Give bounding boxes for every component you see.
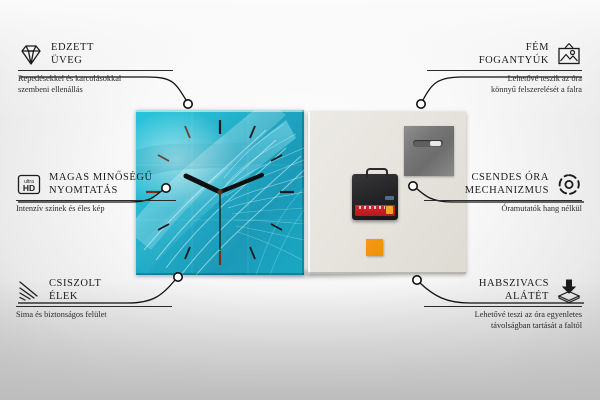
ultra-hd-icon: ultra HD: [16, 172, 42, 197]
callout-head: EDZETT ÜVEG: [18, 42, 173, 67]
callout-title: HABSZIVACS ALÁTÉT: [424, 278, 549, 303]
callout-divider: [424, 306, 582, 307]
svg-text:HD: HD: [23, 183, 35, 193]
callout-desc-line1: Repedésekkel és karcolásokkal: [18, 74, 173, 85]
callout-head: FÉM FOGANTYÚK: [427, 42, 582, 67]
callout-title: CSENDES ÓRA MECHANIZMUS: [424, 172, 549, 197]
wall-hanger-icon: [556, 42, 582, 67]
callout-csendes-ora-mechanizmus[interactable]: CSENDES ÓRA MECHANIZMUS Óramutatók hang …: [424, 172, 582, 215]
callout-title: CSISZOLT ÉLEK: [49, 278, 101, 303]
callout-head: HABSZIVACS ALÁTÉT: [424, 278, 582, 303]
polished-edges-icon: [16, 278, 42, 303]
callout-habszivacs-alatet[interactable]: HABSZIVACS ALÁTÉT Lehetővé teszi az óra …: [424, 278, 582, 331]
callout-title: EDZETT ÜVEG: [51, 42, 94, 67]
callout-fem-fogantyuk[interactable]: FÉM FOGANTYÚK Lehetővé teszik az óra kön…: [427, 42, 582, 95]
callout-desc-line1: Lehetővé teszik az óra: [427, 74, 582, 85]
callout-divider: [16, 306, 172, 307]
callout-divider: [18, 70, 173, 71]
callout-csiszolt-elek[interactable]: CSISZOLT ÉLEK Sima és biztonságos felüle…: [16, 278, 172, 321]
infographic-canvas: EDZETT ÜVEG Repedésekkel és karcolásokka…: [0, 0, 600, 400]
callout-divider: [16, 200, 176, 201]
diamond-icon: [18, 42, 44, 67]
callout-head: ultra HD MAGAS MINŐSÉGŰ NYOMTATÁS: [16, 172, 176, 197]
callout-desc-line2: távolságban tartását a faltól: [424, 321, 582, 332]
foam-pad-icon: [556, 278, 582, 303]
callout-head: CSENDES ÓRA MECHANIZMUS: [424, 172, 582, 197]
callout-title: FÉM FOGANTYÚK: [427, 42, 549, 67]
callout-desc-line2: könnyű felszerelését a falra: [427, 85, 582, 96]
callout-desc-line1: Óramutatók hang nélkül: [424, 204, 582, 215]
callout-desc-line1: Lehetővé teszi az óra egyenletes: [424, 310, 582, 321]
callout-divider: [424, 200, 582, 201]
callout-desc-line1: Intenzív színek és éles kép: [16, 204, 176, 215]
callout-title: MAGAS MINŐSÉGŰ NYOMTATÁS: [49, 172, 153, 197]
callout-desc-line1: Sima és biztonságos felület: [16, 310, 172, 321]
callout-edzett-uveg[interactable]: EDZETT ÜVEG Repedésekkel és karcolásokka…: [18, 42, 173, 95]
callout-head: CSISZOLT ÉLEK: [16, 278, 172, 303]
callout-magas-minosegu-nyomtatas[interactable]: ultra HD MAGAS MINŐSÉGŰ NYOMTATÁS Intenz…: [16, 172, 176, 215]
callout-desc-line2: szembeni ellenállás: [18, 85, 173, 96]
callout-divider: [427, 70, 582, 71]
gear-icon: [556, 172, 582, 197]
